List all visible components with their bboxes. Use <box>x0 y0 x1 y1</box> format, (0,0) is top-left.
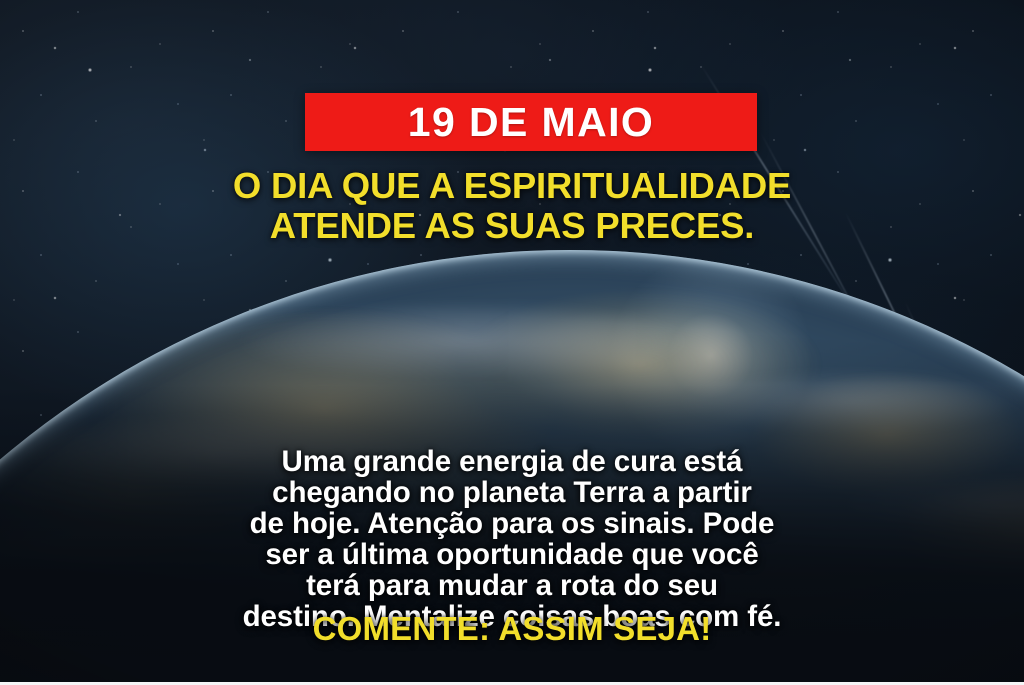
headline: O DIA QUE A ESPIRITUALIDADE ATENDE AS SU… <box>50 166 974 246</box>
date-banner: 19 DE MAIO <box>305 93 757 151</box>
date-banner-label: 19 DE MAIO <box>408 102 654 143</box>
body-line-4: ser a última oportunidade que você <box>62 539 962 570</box>
headline-line-1: O DIA QUE A ESPIRITUALIDADE <box>233 165 791 206</box>
call-to-action: COMENTE: ASSIM SEJA! <box>62 611 962 648</box>
call-to-action-label: COMENTE: ASSIM SEJA! <box>313 610 712 647</box>
body-line-3: de hoje. Atenção para os sinais. Pode <box>62 508 962 539</box>
body-line-2: chegando no planeta Terra a partir <box>62 477 962 508</box>
body-line-1: Uma grande energia de cura está <box>62 446 962 477</box>
body-paragraph: Uma grande energia de cura está chegando… <box>62 446 962 632</box>
poster-content: 19 DE MAIO O DIA QUE A ESPIRITUALIDADE A… <box>0 0 1024 685</box>
headline-line-2: ATENDE AS SUAS PRECES. <box>270 205 754 246</box>
poster-canvas: 19 DE MAIO O DIA QUE A ESPIRITUALIDADE A… <box>0 0 1024 685</box>
body-line-5: terá para mudar a rota do seu <box>62 570 962 601</box>
